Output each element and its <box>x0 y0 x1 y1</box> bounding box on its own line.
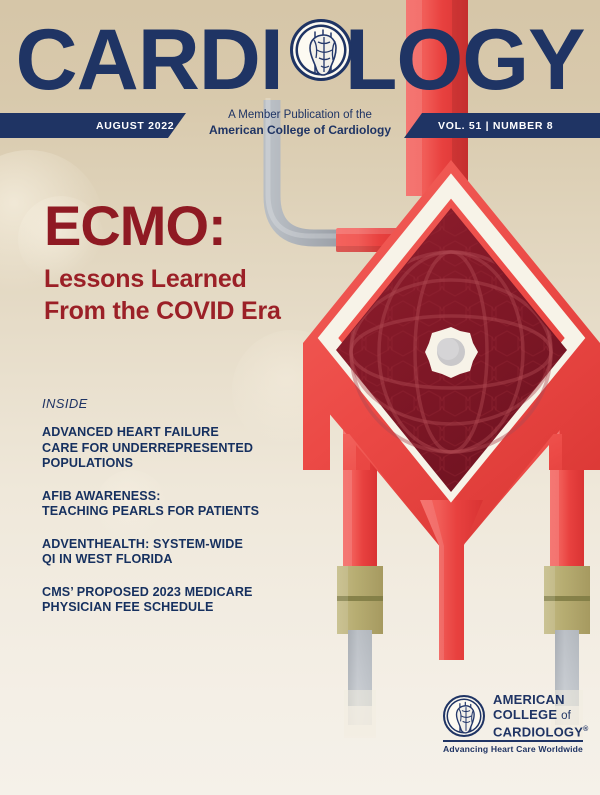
inside-label: INSIDE <box>42 396 317 411</box>
masthead: CARDILOGY AUGUST 2022 <box>0 0 600 150</box>
acc-logo-wordmark: AMERICAN COLLEGE of CARDIOLOGY® <box>493 693 588 740</box>
publisher-line: A Member Publication of the American Col… <box>0 108 600 138</box>
magazine-cover: CARDILOGY AUGUST 2022 <box>0 0 600 795</box>
inside-contents: INSIDE ADVANCED HEART FAILURECARE FOR UN… <box>42 396 317 616</box>
cover-headline: ECMO: Lessons Learned From the COVID Era <box>44 196 334 327</box>
acc-logo-divider <box>443 740 583 742</box>
title-part-2: LOGY <box>345 12 585 108</box>
headline-sub-line-1: Lessons Learned <box>44 263 334 295</box>
acc-logo-line-3: CARDIOLOGY® <box>493 723 588 740</box>
acc-logo-line-2: COLLEGE of <box>493 708 588 724</box>
inside-item[interactable]: ADVENTHEALTH: SYSTEM-WIDEQI IN WEST FLOR… <box>42 537 317 568</box>
acc-logo: AMERICAN COLLEGE of CARDIOLOGY® Advancin… <box>443 693 583 759</box>
registered-mark: ® <box>583 726 588 733</box>
headline-main: ECMO: <box>44 196 334 256</box>
publisher-line-2: American College of Cardiology <box>0 123 600 138</box>
acc-logo-tagline: Advancing Heart Care Worldwide <box>443 744 583 754</box>
left-tube-collar <box>337 566 383 634</box>
headline-sub-line-2: From the COVID Era <box>44 295 334 327</box>
acc-logo-line-1: AMERICAN <box>493 693 588 708</box>
acc-heart-emblem-icon <box>290 19 352 81</box>
title-part-1: CARDI <box>15 12 282 108</box>
publisher-line-1: A Member Publication of the <box>0 108 600 123</box>
acc-heart-emblem-icon <box>443 695 485 737</box>
inside-item[interactable]: ADVANCED HEART FAILURECARE FOR UNDERREPR… <box>42 425 317 472</box>
inside-item[interactable]: CMS’ PROPOSED 2023 MEDICAREPHYSICIAN FEE… <box>42 585 317 616</box>
right-tube-collar <box>544 566 590 634</box>
inside-item[interactable]: AFIB AWARENESS:TEACHING PEARLS FOR PATIE… <box>42 489 317 520</box>
